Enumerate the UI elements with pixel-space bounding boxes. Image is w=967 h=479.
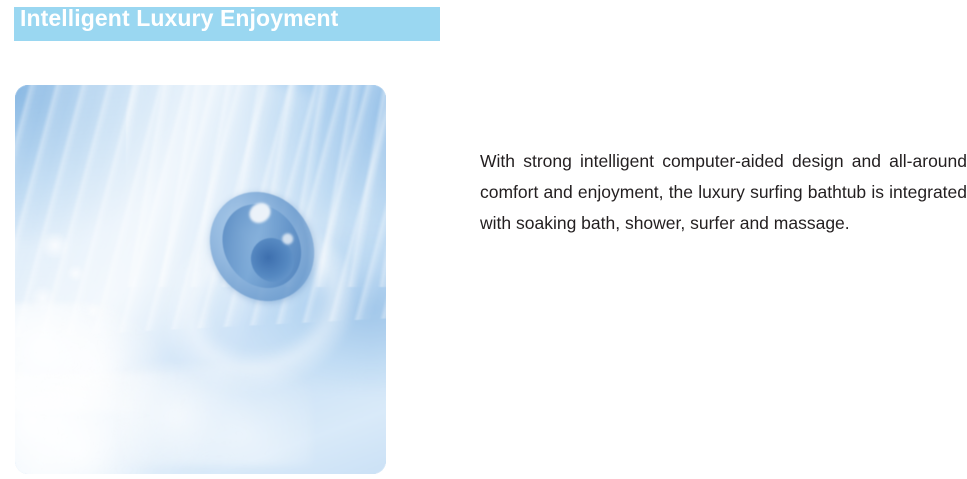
page-title: Intelligent Luxury Enjoyment [20,4,338,32]
foam-patch-bottom [119,365,312,466]
description-paragraph: With strong intelligent computer-aided d… [480,146,967,239]
bathtub-jet-photo [15,85,386,474]
slide-page: Intelligent Luxury Enjoyment With strong… [0,0,967,479]
